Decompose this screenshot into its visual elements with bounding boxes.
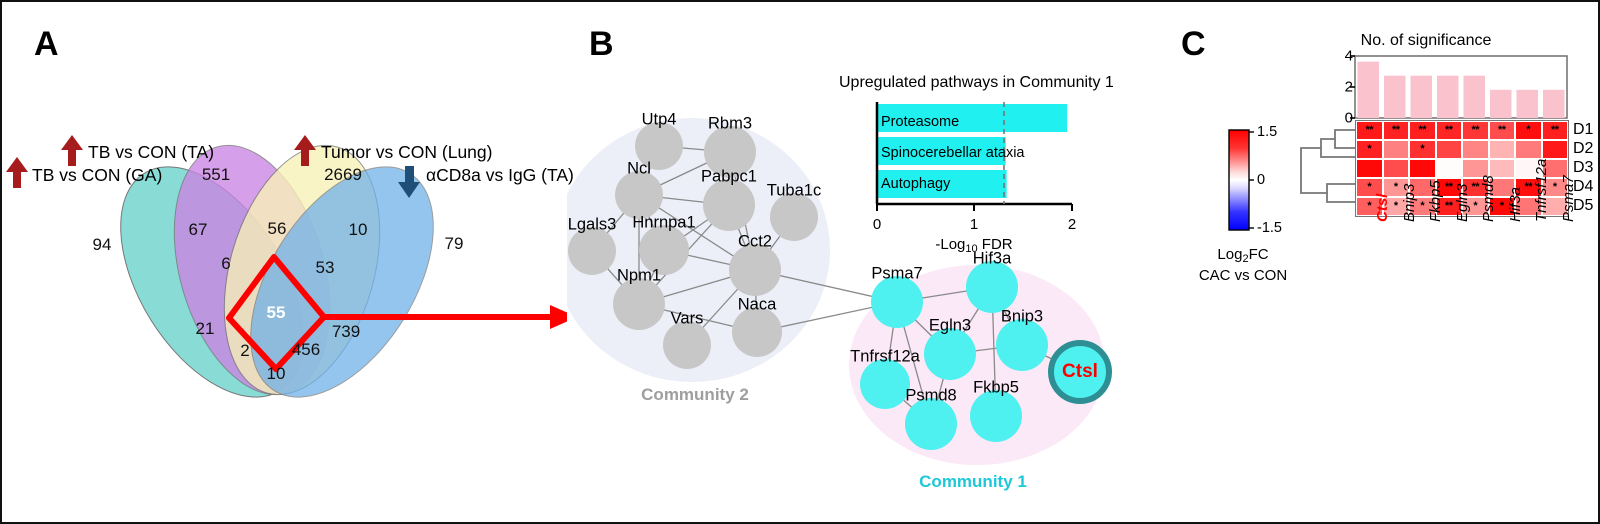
row-dendrogram: [1283, 120, 1355, 220]
significance-bar-ctsl: [1358, 62, 1380, 118]
node-tuba1c: [770, 193, 818, 241]
heatmap-cell-d1-egln3: **: [1436, 121, 1463, 140]
pathway-xtick-0: 0: [873, 216, 881, 233]
heatmap-cell-d1-psma7: **: [1542, 121, 1569, 140]
figure-root: A: [0, 0, 1600, 524]
venn-count-ga-lung: 21: [196, 319, 215, 339]
node-ctsl: [1051, 343, 1109, 401]
node-utp4: [635, 122, 683, 170]
venn-count-ga-only: 94: [93, 235, 112, 255]
node-egln3: [924, 328, 976, 380]
significance-ytick-2: 2: [1345, 79, 1353, 96]
heatmap-cell-d3-egln3: [1436, 159, 1463, 178]
venn-count-lung-only: 2669: [324, 165, 362, 185]
venn-count-ga-cd8a: 2: [240, 341, 249, 361]
heatmap-cell-d3-bnip3: [1383, 159, 1410, 178]
node-naca: [732, 307, 782, 357]
colorbar-tick-mid: 0: [1257, 172, 1265, 188]
heatmap-col-label-psmd8: Psmd8: [1480, 175, 1497, 222]
venn-count-ga-ta-cd8a: 456: [292, 340, 320, 360]
set-label-ta: TB vs CON (TA): [88, 142, 214, 163]
panel-a: A: [2, 2, 567, 522]
heatmap-cell-d2-bnip3: [1383, 140, 1410, 159]
heatmap-cell-d3-fkbp5: [1409, 159, 1436, 178]
panel-c: C No. of significance 4 2 0 ************…: [1167, 2, 1600, 522]
heatmap-row-label-d3: D3: [1573, 159, 1593, 177]
colorbar-caption-line1: Log2FC: [1217, 246, 1268, 265]
community-2-caption: Community 2: [641, 385, 749, 405]
heatmap-cell-d1-hif3a: **: [1489, 121, 1516, 140]
significance-bar-psma7: [1543, 90, 1565, 118]
heatmap-row-label-d1: D1: [1573, 121, 1593, 139]
heatmap-col-label-psma7: Psma7: [1560, 175, 1577, 222]
node-fkbp5: [970, 390, 1022, 442]
set-arrow-ga: [6, 157, 28, 188]
heatmap-cell-d1-tnfrsf12a: *: [1515, 121, 1542, 140]
set-label-ga: TB vs CON (GA): [32, 165, 162, 186]
set-label-cd8a: αCD8a vs IgG (TA): [426, 165, 574, 186]
significance-bar-bnip3: [1384, 76, 1406, 118]
heatmap-cell-d2-ctsl: *: [1356, 140, 1383, 159]
heatmap-cell-d2-tnfrsf12a: [1515, 140, 1542, 159]
node-lgals3: [568, 227, 616, 275]
venn-count-ta-lung-cd8a: 53: [316, 258, 335, 278]
venn-count-ta-lung: 56: [268, 219, 287, 239]
venn-count-ta-cd8a: 739: [332, 322, 360, 342]
venn-count-lung-cd8a: 10: [349, 220, 368, 240]
significance-bar-egln3: [1437, 76, 1459, 118]
heatmap-cell-d1-ctsl: **: [1356, 121, 1383, 140]
node-pabpc1: [703, 179, 755, 231]
node-hif3a: [966, 261, 1018, 313]
set-arrow-ta: [61, 135, 83, 166]
colorbar: [1227, 128, 1261, 238]
set-label-lung: Tumor vs CON (Lung): [321, 142, 492, 163]
venn-count-ga-ta-lung: 6: [221, 254, 230, 274]
significance-bar-hif3a: [1490, 90, 1512, 118]
heatmap-row-label-d2: D2: [1573, 140, 1593, 158]
significance-bar-fkbp5: [1411, 76, 1433, 118]
significance-chart-title: No. of significance: [1361, 32, 1492, 50]
node-hnrnpa1: [639, 225, 689, 275]
significance-bar-chart: [1345, 54, 1600, 126]
venn-diagram: [2, 2, 567, 522]
colorbar-tick-high: 1.5: [1257, 124, 1277, 140]
venn-count-cd8a-only: 79: [445, 234, 464, 254]
heatmap-col-label-egln3: Egln3: [1454, 184, 1471, 222]
colorbar-tick-low: -1.5: [1257, 220, 1282, 236]
node-cct2: [729, 244, 781, 296]
venn-count-all-four: 55: [267, 303, 286, 323]
pathway-label-proteasome: Proteasome: [881, 114, 959, 130]
panel-c-letter: C: [1181, 27, 1206, 61]
node-psmd8: [905, 398, 957, 450]
pathway-xtick-2: 2: [1068, 216, 1076, 233]
colorbar-caption-line2: CAC vs CON: [1199, 267, 1287, 284]
node-bnip3: [996, 319, 1048, 371]
heatmap-cell-d2-hif3a: [1489, 140, 1516, 159]
node-vars: [663, 321, 711, 369]
venn-count-lung-cd8a-bottom: 10: [267, 364, 286, 384]
venn-count-ga-ta: 67: [189, 220, 208, 240]
heatmap-cell-d2-psma7: [1542, 140, 1569, 159]
heatmap-col-label-ctsl: Ctsl: [1374, 194, 1391, 222]
venn-count-ta-only: 551: [202, 165, 230, 185]
heatmap-col-label-tnfrsf12a: Tnfrsf12a: [1533, 159, 1550, 222]
significance-bar-tnfrsf12a: [1517, 90, 1539, 118]
heatmap-col-label-hif3a: Hif3a: [1507, 187, 1524, 222]
heatmap-cell-d1-bnip3: **: [1383, 121, 1410, 140]
pathway-x-axis-label: -Log10 FDR: [935, 236, 1012, 255]
heatmap-cell-d2-psmd8: [1462, 140, 1489, 159]
significance-bar-psmd8: [1464, 76, 1486, 118]
heatmap-cell-d2-egln3: [1436, 140, 1463, 159]
heatmap-col-label-bnip3: Bnip3: [1401, 184, 1418, 222]
heatmap-cell-d1-psmd8: **: [1462, 121, 1489, 140]
heatmap-cell-d1-fkbp5: **: [1409, 121, 1436, 140]
node-psma7: [871, 276, 923, 328]
pathway-xtick-1: 1: [970, 216, 978, 233]
heatmap-col-label-fkbp5: Fkbp5: [1427, 180, 1444, 222]
pathway-label-spinocerebellar-ataxia: Spinocerebellar ataxia: [881, 145, 1024, 161]
node-tnfrsf12a: [860, 359, 910, 409]
pathway-label-autophagy: Autophagy: [881, 176, 950, 192]
node-rbm3: [704, 126, 756, 178]
pathway-chart-title: Upregulated pathways in Community 1: [839, 74, 1114, 92]
node-npm1: [613, 278, 665, 330]
heatmap-cell-d3-ctsl: [1356, 159, 1383, 178]
node-ncl: [615, 171, 663, 219]
heatmap-cell-d2-fkbp5: *: [1409, 140, 1436, 159]
significance-ytick-4: 4: [1345, 48, 1353, 65]
panel-b: B Community 2 Community 1 Utp4Rbm3NclPab…: [567, 2, 1167, 522]
community-1-caption: Community 1: [919, 472, 1027, 492]
venn-to-network-arrowhead: [550, 305, 567, 329]
